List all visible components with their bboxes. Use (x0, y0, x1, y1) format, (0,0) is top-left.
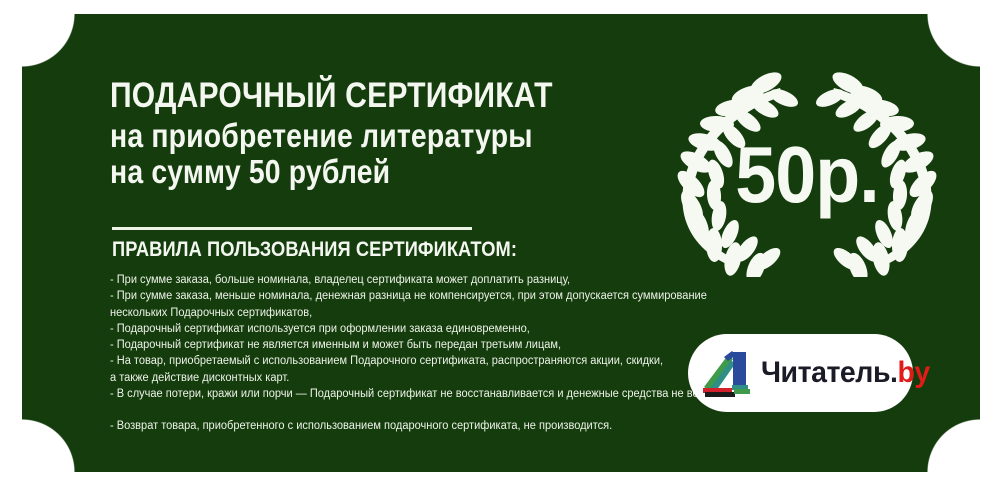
headline-subtitle: на приобретение литературы (110, 119, 592, 153)
rule-item: - При сумме заказа, меньше номинала, ден… (110, 288, 868, 304)
divider-rule (112, 227, 472, 230)
logo-text: Читатель.by (761, 356, 930, 390)
gift-certificate: ПОДАРОЧНЫЙ СЕРТИФИКАТ на приобретение ли… (0, 0, 1001, 485)
emblem: 50р. (662, 72, 952, 277)
logo-tld: by (897, 356, 929, 389)
headline-block: ПОДАРОЧНЫЙ СЕРТИФИКАТ на приобретение ли… (110, 78, 670, 189)
headline-title: ПОДАРОЧНЫЙ СЕРТИФИКАТ (110, 78, 592, 114)
rule-item: нескольких Подарочных сертификатов, (110, 305, 868, 321)
logo-badge[interactable]: Читатель.by (688, 334, 913, 412)
logo-name: Читатель. (761, 356, 897, 389)
emblem-value: 50р. (674, 72, 941, 277)
rules-title: ПРАВИЛА ПОЛЬЗОВАНИЯ СЕРТИФИКАТОМ: (112, 238, 517, 262)
headline-amount: на сумму 50 рублей (110, 155, 592, 189)
open-book-icon (702, 347, 758, 399)
rule-item-final: - Возврат товара, приобретенного с испол… (110, 418, 868, 434)
